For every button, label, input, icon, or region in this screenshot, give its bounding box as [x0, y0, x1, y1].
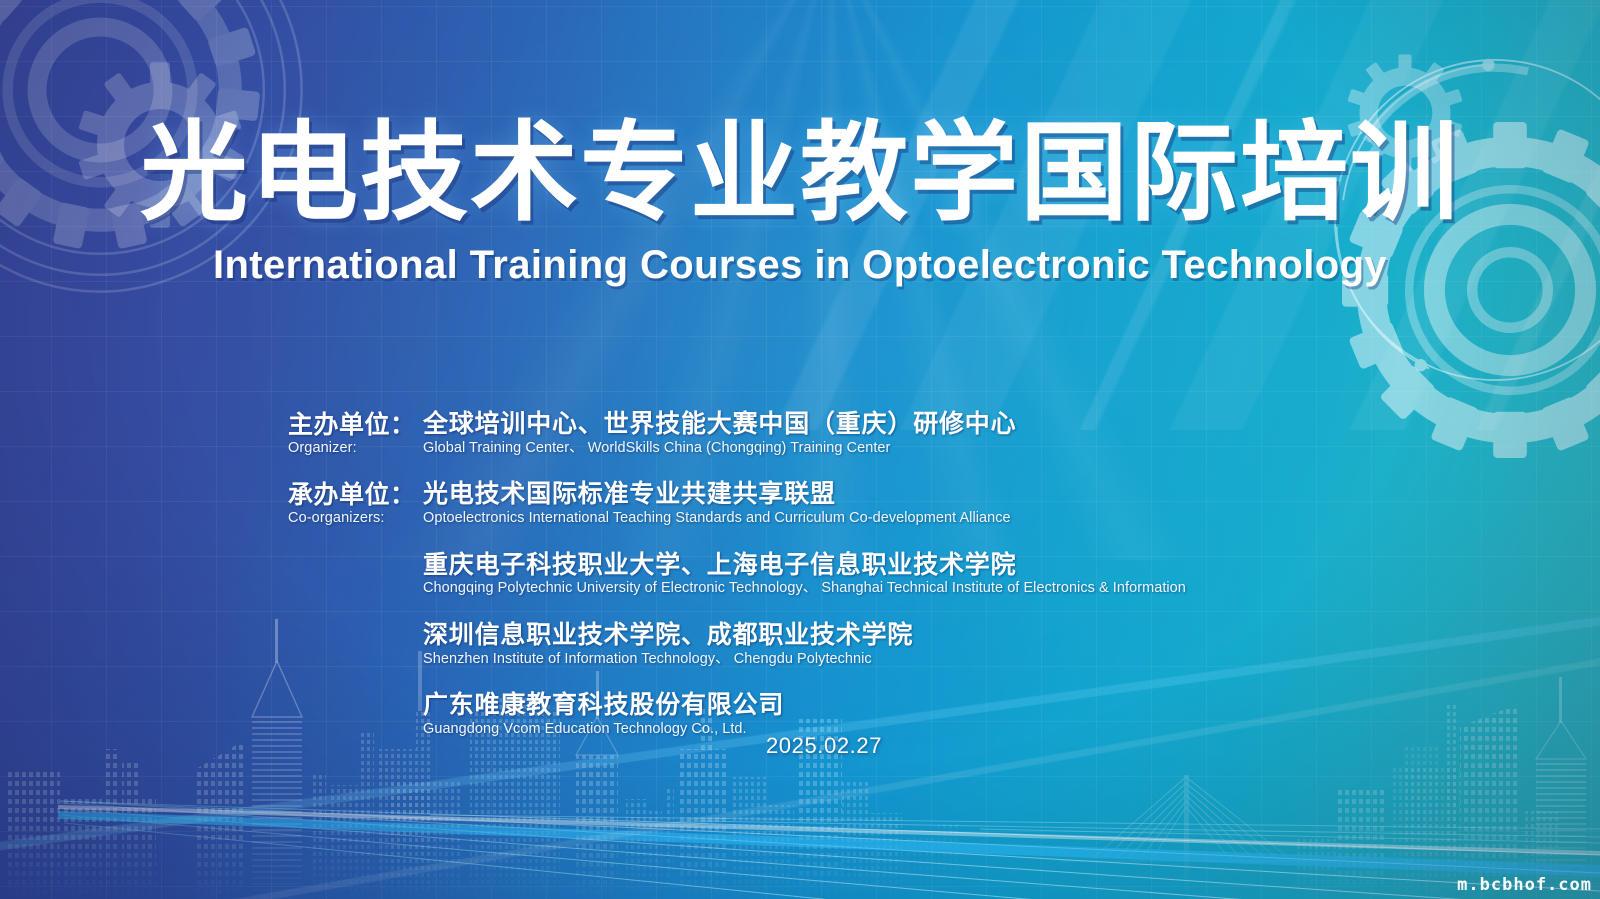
credit-body: 重庆电子科技职业大学、上海电子信息职业技术学院 Chongqing Polyte…: [423, 551, 1186, 598]
credit-row-coorganizers: 承办单位： Co-organizers: 光电技术国际标准专业共建共享联盟 Op…: [288, 480, 1388, 527]
credit-body-zh: 全球培训中心、世界技能大赛中国（重庆）研修中心: [423, 410, 1016, 439]
credit-body-en: Global Training Center、 WorldSkills Chin…: [423, 439, 1016, 458]
event-date: 2025.02.27: [0, 733, 1600, 759]
credit-row-institutions-2: 深圳信息职业技术学院、成都职业技术学院 Shenzhen Institute o…: [288, 621, 1388, 668]
credit-body-en: Shenzhen Institute of Information Techno…: [423, 650, 913, 669]
credit-label-en: Co-organizers:: [288, 509, 423, 527]
credit-body: 深圳信息职业技术学院、成都职业技术学院 Shenzhen Institute o…: [423, 621, 913, 668]
credit-body-zh: 深圳信息职业技术学院、成都职业技术学院: [423, 621, 913, 650]
credit-body: 广东唯康教育科技股份有限公司 Guangdong Vcom Education …: [423, 691, 784, 738]
credit-body: 光电技术国际标准专业共建共享联盟 Optoelectronics Interna…: [423, 480, 1011, 527]
credit-body-en: Optoelectronics International Teaching S…: [423, 509, 1011, 528]
credit-body-zh: 重庆电子科技职业大学、上海电子信息职业技术学院: [423, 551, 1186, 580]
credit-row-institutions-1: 重庆电子科技职业大学、上海电子信息职业技术学院 Chongqing Polyte…: [288, 551, 1388, 598]
credit-body-zh: 光电技术国际标准专业共建共享联盟: [423, 480, 1011, 509]
credit-label: 承办单位： Co-organizers:: [288, 480, 423, 527]
credit-label: 主办单位： Organizer:: [288, 410, 423, 457]
event-date-text: 2025.02.27: [766, 733, 882, 759]
page-title-zh: 光电技术专业教学国际培训: [0, 118, 1600, 230]
watermark: m.bcbhof.com: [1457, 875, 1592, 895]
credit-body: 全球培训中心、世界技能大赛中国（重庆）研修中心 Global Training …: [423, 410, 1016, 457]
credit-label-en: Organizer:: [288, 439, 423, 457]
page-title-en: International Training Courses in Optoel…: [0, 243, 1600, 288]
credit-label-zh: 主办单位：: [288, 411, 423, 439]
credits-block: 主办单位： Organizer: 全球培训中心、世界技能大赛中国（重庆）研修中心…: [288, 410, 1388, 762]
credit-body-zh: 广东唯康教育科技股份有限公司: [423, 691, 784, 720]
credit-body-en: Chongqing Polytechnic University of Elec…: [423, 579, 1186, 598]
poster-canvas: 光电技术专业教学国际培训 International Training Cour…: [0, 0, 1600, 899]
credit-row-company: 广东唯康教育科技股份有限公司 Guangdong Vcom Education …: [288, 691, 1388, 738]
credit-label-zh: 承办单位：: [288, 481, 423, 509]
credit-row-organizer: 主办单位： Organizer: 全球培训中心、世界技能大赛中国（重庆）研修中心…: [288, 410, 1388, 457]
